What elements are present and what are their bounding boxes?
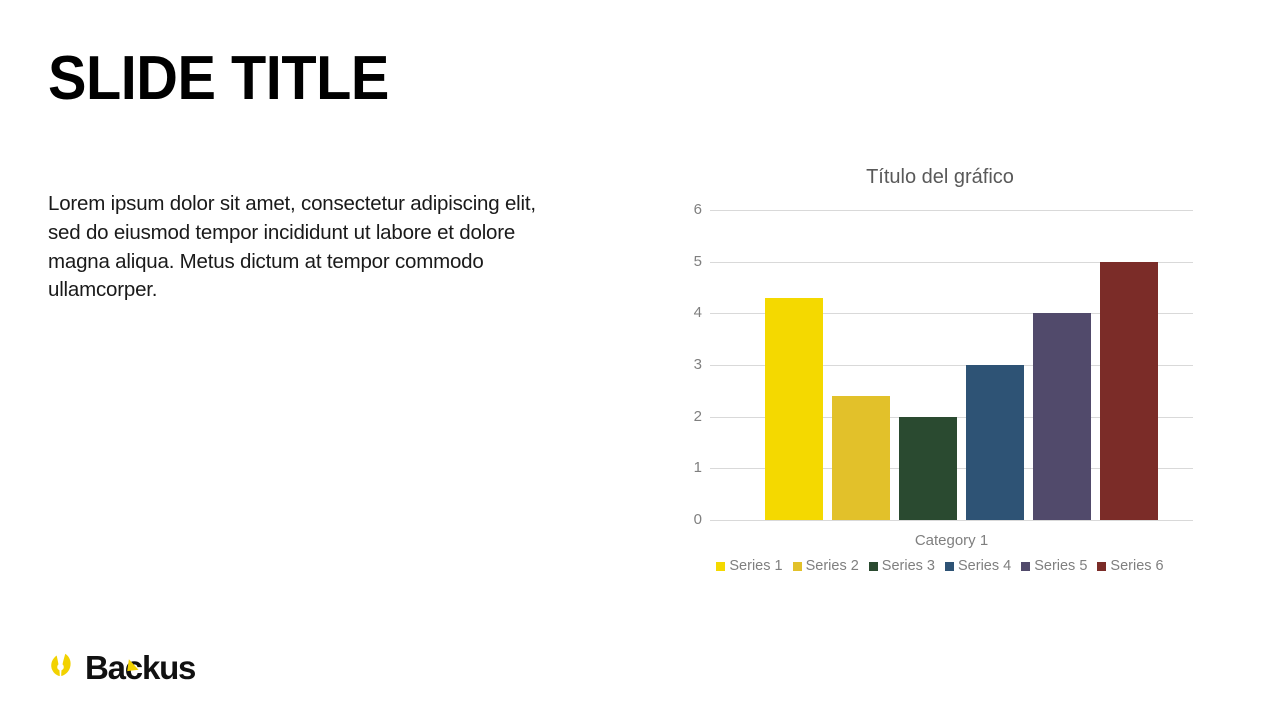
legend-item[interactable]: Series 5 — [1021, 558, 1087, 574]
legend-label: Series 5 — [1034, 558, 1087, 574]
chart-bar — [765, 298, 823, 520]
legend-label: Series 6 — [1110, 558, 1163, 574]
backus-k-accent-icon — [127, 659, 140, 672]
y-axis-tick-label: 4 — [660, 304, 702, 321]
legend-label: Series 4 — [958, 558, 1011, 574]
chart-bar — [899, 417, 957, 520]
backus-wordmark: Backus — [85, 651, 195, 684]
chart-x-axis-label: Category 1 — [710, 532, 1193, 549]
legend-label: Series 1 — [729, 558, 782, 574]
legend-swatch-icon — [793, 562, 802, 571]
y-axis-tick-label: 2 — [660, 408, 702, 425]
chart-bar — [832, 396, 890, 520]
chart-bar — [1033, 313, 1091, 520]
legend-swatch-icon — [1021, 562, 1030, 571]
body-text: Lorem ipsum dolor sit amet, consectetur … — [48, 190, 538, 305]
y-axis-tick-label: 3 — [660, 356, 702, 373]
y-axis-tick-label: 5 — [660, 253, 702, 270]
legend-label: Series 3 — [882, 558, 935, 574]
backus-logo: Backus — [46, 650, 195, 684]
legend-swatch-icon — [869, 562, 878, 571]
chart-legend: Series 1Series 2Series 3Series 4Series 5… — [660, 558, 1220, 574]
legend-swatch-icon — [716, 562, 725, 571]
page-title: SLIDE TITLE — [48, 48, 389, 110]
legend-swatch-icon — [1097, 562, 1106, 571]
legend-item[interactable]: Series 4 — [945, 558, 1011, 574]
y-axis-tick-label: 0 — [660, 511, 702, 528]
backus-wordmark-text: Backus — [85, 649, 195, 686]
bar-chart: Título del gráfico 6543210 Category 1 Se… — [660, 160, 1220, 590]
chart-bars — [710, 210, 1193, 520]
legend-item[interactable]: Series 1 — [716, 558, 782, 574]
legend-item[interactable]: Series 6 — [1097, 558, 1163, 574]
legend-item[interactable]: Series 2 — [793, 558, 859, 574]
legend-item[interactable]: Series 3 — [869, 558, 935, 574]
legend-label: Series 2 — [806, 558, 859, 574]
y-axis-tick-label: 1 — [660, 459, 702, 476]
chart-bar — [1100, 262, 1158, 520]
backus-mark-icon — [46, 650, 80, 684]
legend-swatch-icon — [945, 562, 954, 571]
y-axis-tick-label: 6 — [660, 201, 702, 218]
chart-bar — [966, 365, 1024, 520]
